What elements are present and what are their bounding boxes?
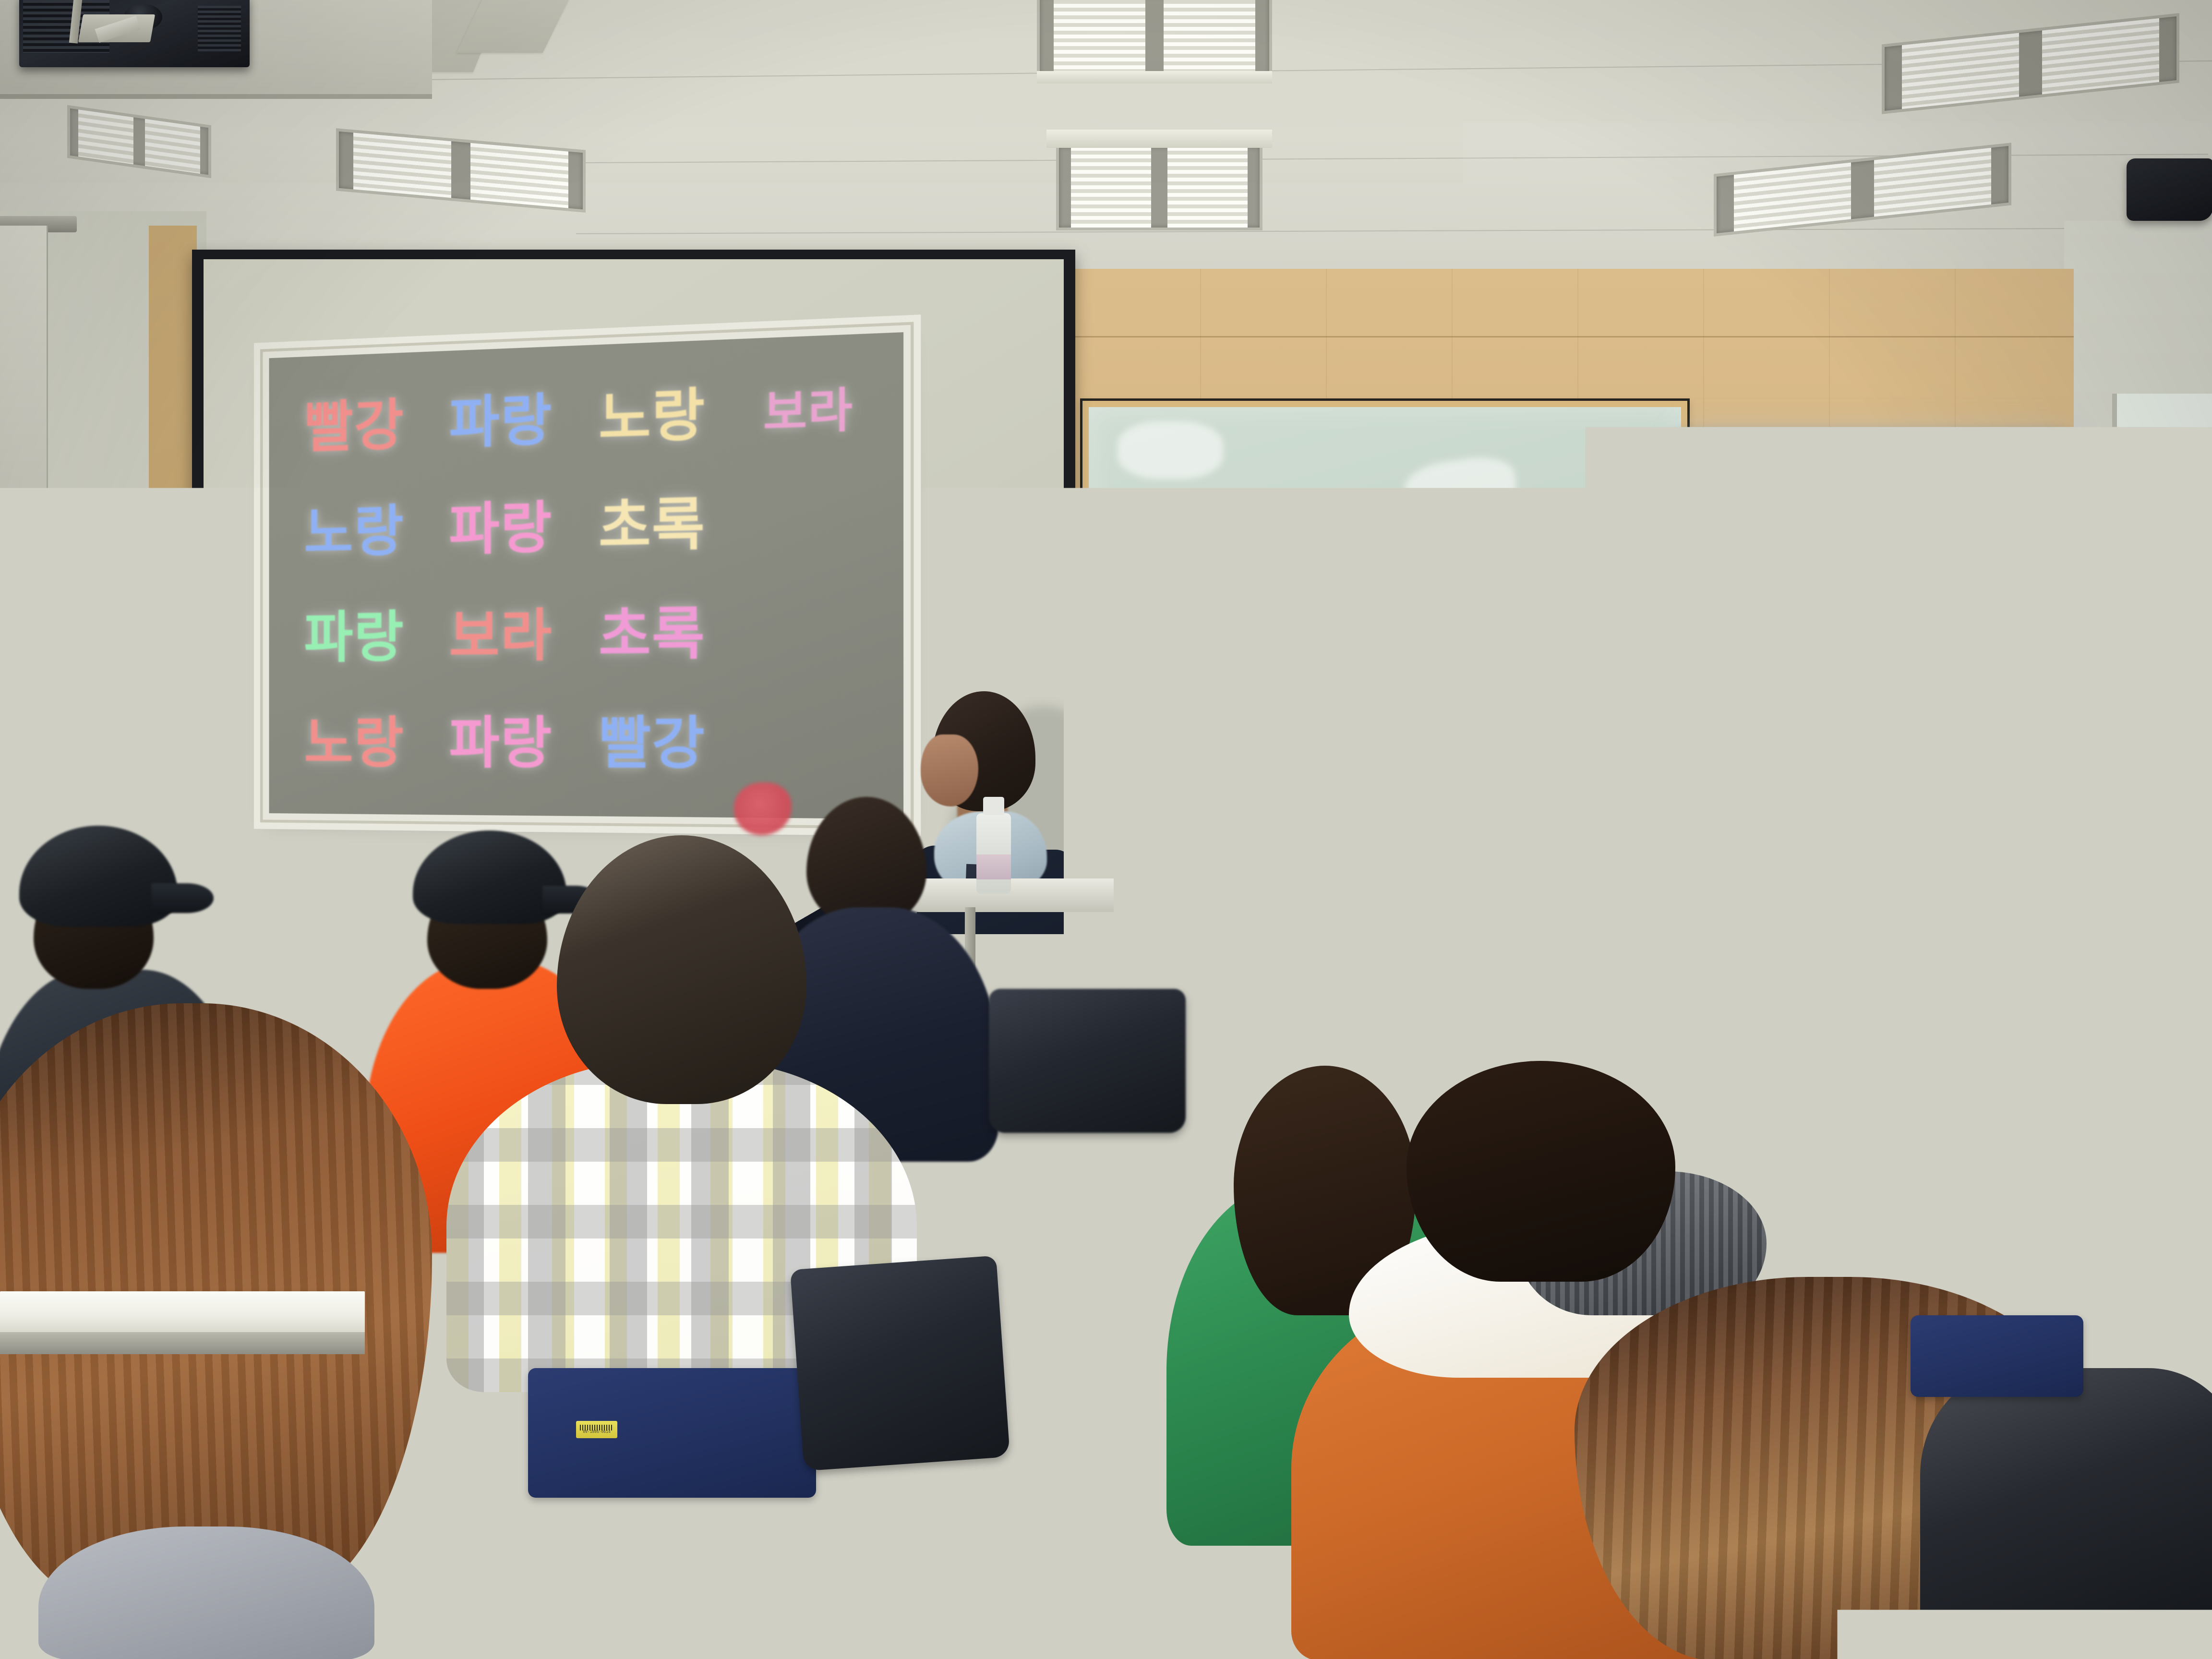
wood-panel-seam — [1075, 336, 2074, 337]
tv-osd-button[interactable] — [1701, 539, 1720, 551]
tv-osd-button[interactable] — [1701, 523, 1720, 536]
lectern-handle[interactable] — [1722, 1018, 1785, 1030]
chair-asset-label: 09-1805-0614 — [576, 1421, 617, 1438]
window-blind — [0, 226, 48, 562]
stroop-word: 파랑 — [427, 499, 576, 558]
audience-member-leather-jacket — [1920, 1368, 2212, 1659]
projector-vent-icon — [198, 6, 241, 51]
stroop-row: 파랑 보라 초록 — [282, 576, 888, 690]
head — [1522, 792, 1642, 931]
black-backpack[interactable] — [989, 989, 1186, 1133]
classroom-scene: invisible XCANVAS — [0, 0, 2212, 1659]
head — [1253, 782, 1407, 941]
lectern-handle[interactable] — [1722, 941, 1766, 951]
stroop-row: 노랑 파랑 초록 — [282, 464, 888, 585]
stroop-word: 파랑 — [282, 609, 426, 665]
tv-osd-button[interactable] — [1701, 508, 1720, 520]
ceiling-light-lip — [1046, 130, 1272, 148]
ceiling-light-fixture — [1037, 0, 1272, 77]
stroop-word: 파랑 — [427, 391, 576, 452]
tv-osd-logo: invisible — [1700, 447, 1727, 458]
stroop-row: 빨강 파랑 노랑 보라 — [282, 353, 888, 481]
tv-brand-logo: XCANVAS — [1675, 652, 2069, 667]
tv-osd-button[interactable] — [1701, 493, 1720, 505]
ceiling-light-lip — [1037, 71, 1272, 84]
torso — [38, 1527, 374, 1659]
power-led-indicator — [1740, 984, 1751, 995]
stroop-word: 빨강 — [576, 714, 729, 772]
hair — [1407, 1061, 1675, 1282]
tv-taskbar[interactable] — [1695, 616, 2055, 635]
tv-osd-button[interactable] — [1701, 462, 1720, 474]
ceiling-projector — [19, 0, 250, 67]
torso — [1920, 1368, 2212, 1659]
right-window — [2112, 394, 2212, 922]
stroop-word: 보라 — [427, 607, 576, 664]
presentation-slide: 빨강 파랑 노랑 보라 노랑 파랑 초록 파랑 보라 초록 — [269, 332, 904, 819]
tissue-box[interactable] — [638, 1522, 773, 1613]
tv-mount-bracket — [1839, 672, 1906, 691]
paper-sheet[interactable] — [787, 1599, 1086, 1659]
cap-brim — [151, 883, 214, 913]
stroop-word: 노랑 — [282, 715, 426, 770]
stroop-word: 보라 — [729, 385, 888, 437]
ceiling-speaker — [2127, 158, 2212, 221]
head — [557, 835, 806, 1104]
stroop-word — [729, 632, 888, 633]
chair[interactable] — [1911, 1315, 2083, 1397]
stroop-word: 파랑 — [427, 715, 576, 771]
audience-member-short-hair — [1479, 792, 1680, 1099]
desk-leg — [1075, 1166, 1088, 1277]
chair[interactable] — [528, 1368, 816, 1498]
stroop-word: 초록 — [576, 495, 729, 555]
presenter-face — [921, 734, 978, 806]
stroop-word: 노랑 — [576, 385, 729, 447]
chair[interactable] — [1824, 1099, 1968, 1171]
stroop-row: 노랑 파랑 빨강 — [282, 687, 888, 799]
stroop-word: 노랑 — [282, 502, 426, 561]
tv-osd-sidebar[interactable] — [1699, 459, 1722, 617]
wall-mounted-tv[interactable]: invisible XCANVAS — [1675, 427, 2069, 679]
stroop-word: 초록 — [576, 604, 729, 663]
ceiling-light-fixture — [1056, 144, 1262, 230]
black-bag[interactable] — [790, 1256, 1010, 1471]
desk — [0, 1291, 365, 1334]
tv-screen: invisible — [1695, 445, 2055, 635]
tv-osd-button[interactable] — [1701, 477, 1720, 490]
stroop-word — [729, 520, 888, 523]
tissue-box[interactable] — [1118, 1579, 1243, 1659]
desk-edge — [0, 1332, 365, 1354]
chair-asset-id: 09-1805-0614 — [583, 1431, 611, 1434]
stroop-word-grid: 빨강 파랑 노랑 보라 노랑 파랑 초록 파랑 보라 초록 — [282, 353, 888, 799]
ceiling-soffit-edge — [0, 94, 432, 99]
stroop-word: 빨강 — [282, 396, 426, 456]
